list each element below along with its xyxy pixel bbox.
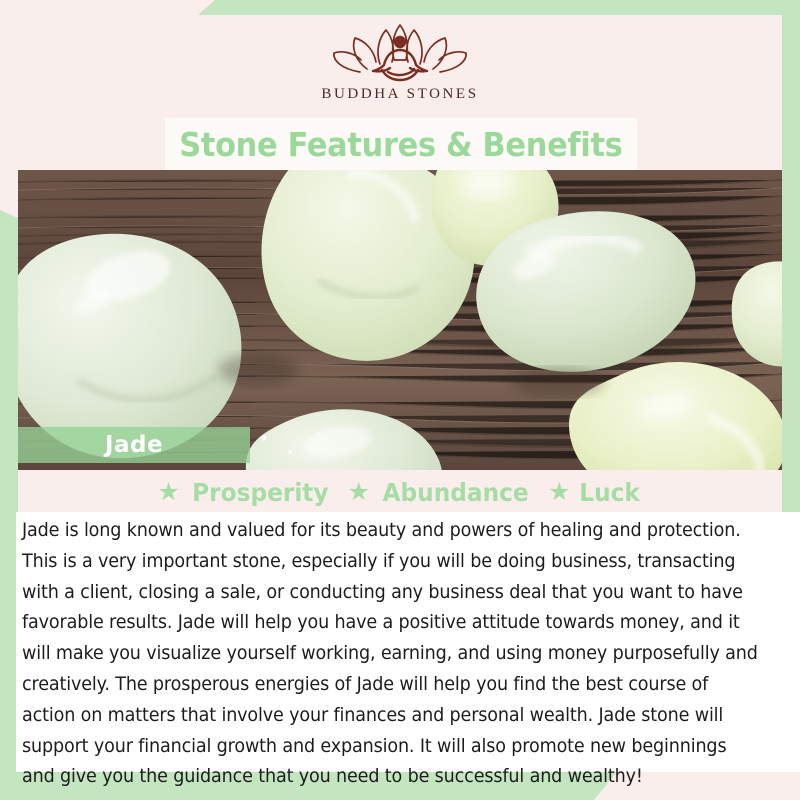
brand-logo: BUDDHA STONES xyxy=(0,20,800,112)
benefit-item-prosperity: ★ Prosperity xyxy=(157,478,333,507)
stone-photo xyxy=(18,170,782,470)
star-icon: ★ xyxy=(548,480,570,505)
title-banner: Stone Features & Benefits xyxy=(165,118,637,170)
benefit-item-abundance: ★ Abundance xyxy=(347,478,534,507)
description-text: Jade is long known and valued for its be… xyxy=(22,516,759,793)
page-title: Stone Features & Benefits xyxy=(179,125,622,164)
brand-wordmark: BUDDHA STONES xyxy=(321,86,478,103)
benefits-row: ★ Prosperity ★ Abundance ★ Luck xyxy=(0,478,800,507)
lotus-meditation-icon xyxy=(324,20,476,82)
stone-name-badge: Jade xyxy=(18,427,250,463)
description-panel: Jade is long known and valued for its be… xyxy=(16,512,800,772)
stone-name-label: Jade xyxy=(105,432,163,458)
benefit-label: Abundance xyxy=(382,478,528,507)
star-icon: ★ xyxy=(157,480,179,505)
stone-features-poster: BUDDHA STONES Stone Features & Benefits xyxy=(0,0,800,800)
benefit-label: Luck xyxy=(580,478,641,507)
star-icon: ★ xyxy=(347,480,369,505)
benefit-label: Prosperity xyxy=(192,478,328,507)
top-accent-band xyxy=(198,0,800,15)
benefit-item-luck: ★ Luck xyxy=(548,478,643,507)
